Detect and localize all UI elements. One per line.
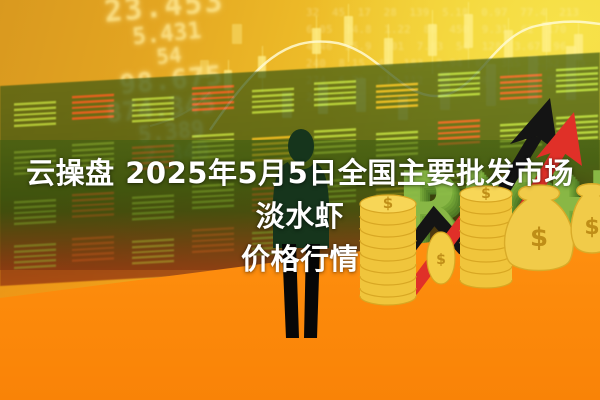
page-title: 云操盘 2025年5月5日全国主要批发市场淡水虾 价格行情 bbox=[0, 152, 600, 281]
title-line-2: 价格行情 bbox=[16, 238, 584, 281]
banner-image: 23.453 5.431 54 98.675 874.345 5.389 2.3… bbox=[0, 0, 600, 400]
title-line-1: 云操盘 2025年5月5日全国主要批发市场淡水虾 bbox=[26, 156, 574, 233]
